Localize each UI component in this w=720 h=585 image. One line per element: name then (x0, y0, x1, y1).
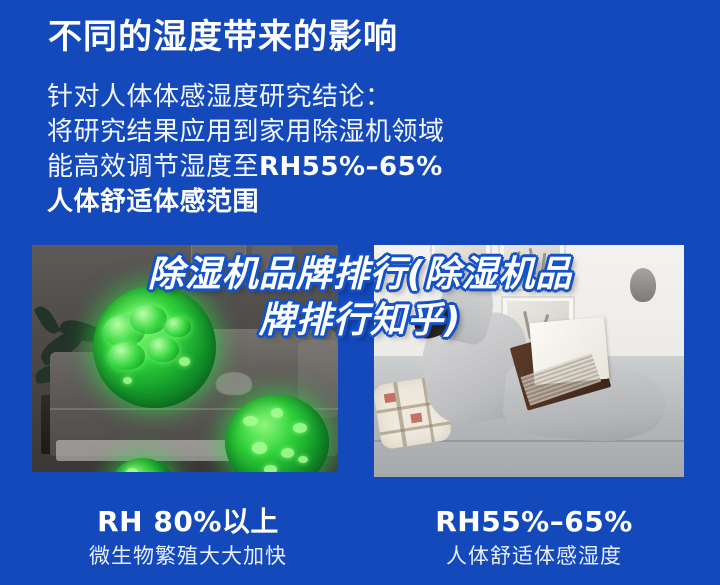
person-hand (470, 273, 495, 292)
microbe-dot (264, 465, 276, 472)
microbe-bubble (108, 342, 145, 370)
microbe-cluster-large (93, 286, 215, 409)
caption-right-value: RH55%–65% (374, 505, 694, 539)
photo-left-humid-room (32, 245, 338, 472)
plant-leaf (34, 303, 60, 336)
wall-art-canvas (504, 245, 561, 286)
microbe-dot (123, 377, 133, 384)
microbe-dot (293, 423, 307, 433)
caption-left-description: 微生物繁殖大大加快 (28, 542, 348, 570)
wall-lamp-knob (630, 268, 656, 302)
microbe-dot (252, 442, 268, 453)
microbe-dot (126, 468, 138, 472)
photo-row (0, 0, 720, 585)
microbe-bubble (164, 317, 191, 338)
wall-art-stroke (529, 248, 537, 275)
pillow-pattern (394, 382, 408, 447)
microbe-dot (271, 408, 283, 418)
microbe-dot (243, 416, 258, 426)
wall-art-stroke (541, 253, 547, 273)
microbe-bubble (147, 337, 179, 362)
caption-right-description: 人体舒适体感湿度 (374, 542, 694, 570)
microbe-dot (281, 448, 295, 458)
caption-right: RH55%–65% 人体舒适体感湿度 (374, 505, 694, 570)
microbe-bubble (130, 305, 167, 333)
microbe-dot (179, 357, 190, 366)
pillow-pattern (410, 412, 423, 423)
wall-art-frame (498, 245, 566, 291)
left-room-scene (32, 245, 338, 472)
pillow-pattern (380, 421, 451, 435)
photo-right-comfort-room (374, 245, 684, 477)
microbe-dot (298, 456, 308, 464)
wall-art-stroke (512, 251, 520, 274)
right-room-scene (374, 245, 684, 477)
caption-left: RH 80%以上 微生物繁殖大大加快 (28, 505, 348, 570)
sofa-cushion (216, 372, 253, 395)
poster-root: 不同的湿度带来的影响 针对人体体感湿度研究结论： 将研究结果应用到家用除湿机领域… (0, 0, 720, 585)
caption-left-value: RH 80%以上 (28, 505, 348, 539)
wall-panel (191, 245, 246, 286)
wall-panel-secondary (252, 245, 292, 272)
